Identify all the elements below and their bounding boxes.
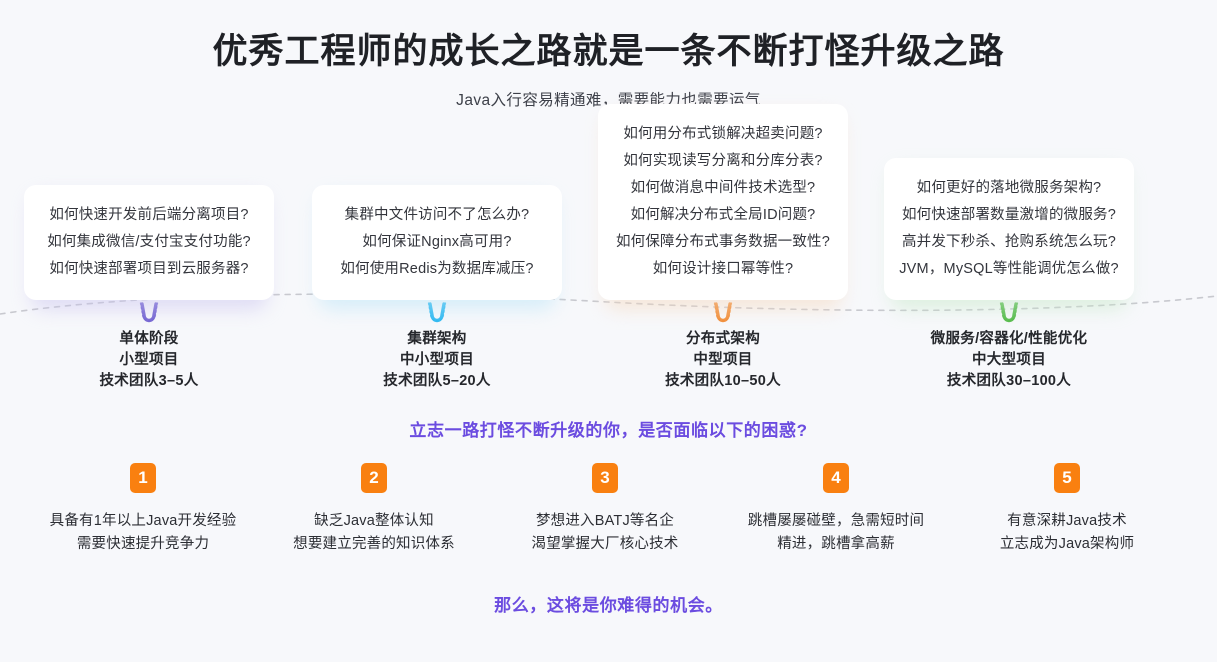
pain-text-5: 有意深耕Java技术 立志成为Java架构师 (951, 510, 1183, 556)
pain-text-2: 缺乏Java整体认知 想要建立完善的知识体系 (258, 510, 490, 556)
stage-label-line: 技术团队10–50人 (598, 371, 848, 392)
stage-label-4: 微服务/容器化/性能优化 中大型项目 技术团队30–100人 (884, 329, 1134, 392)
stage-card-wrap-3: 如何用分布式锁解决超卖问题? 如何实现读写分离和分库分表? 如何做消息中间件技术… (598, 104, 848, 300)
pain-text-line: 跳槽屡屡碰壁，急需短时间 (720, 510, 952, 533)
stage-label-line: 技术团队5–20人 (312, 371, 562, 392)
card-line: 如何实现读写分离和分库分表? (608, 148, 838, 175)
pain-section-heading: 立志一路打怪不断升级的你，是否面临以下的困惑? (0, 416, 1217, 441)
page-root: 优秀工程师的成长之路就是一条不断打怪升级之路 Java入行容易精通难，需要能力也… (0, 0, 1217, 662)
pain-section-footer: 那么，这将是你难得的机会。 (0, 591, 1217, 616)
pain-point-item-2: 2 缺乏Java整体认知 想要建立完善的知识体系 (258, 463, 490, 556)
stage-item-4: 如何更好的落地微服务架构? 如何快速部署数量激增的微服务? 高并发下秒杀、抢购系… (884, 132, 1134, 392)
pain-badge-1: 1 (130, 463, 156, 493)
stage-label-2: 集群架构 中小型项目 技术团队5–20人 (312, 329, 562, 392)
page-title: 优秀工程师的成长之路就是一条不断打怪升级之路 (0, 30, 1217, 74)
stage-label-line: 小型项目 (24, 350, 274, 371)
card-line: 如何快速开发前后端分离项目? (34, 202, 264, 229)
pain-text-line: 需要快速提升竞争力 (27, 533, 259, 556)
stage-label-line: 中型项目 (598, 350, 848, 371)
card-line: 如何做消息中间件技术选型? (608, 175, 838, 202)
pain-badge-5: 5 (1054, 463, 1080, 493)
stage-item-3: 如何用分布式锁解决超卖问题? 如何实现读写分离和分库分表? 如何做消息中间件技术… (598, 132, 848, 392)
card-line: JVM，MySQL等性能调优怎么做? (894, 256, 1124, 283)
stage-question-card-2: 集群中文件访问不了怎么办? 如何保证Nginx高可用? 如何使用Redis为数据… (312, 185, 562, 300)
stage-card-wrap-1: 如何快速开发前后端分离项目? 如何集成微信/支付宝支付功能? 如何快速部署项目到… (24, 185, 274, 300)
pain-text-line: 立志成为Java架构师 (951, 533, 1183, 556)
card-line: 集群中文件访问不了怎么办? (322, 202, 552, 229)
pain-badge-4: 4 (823, 463, 849, 493)
stage-question-card-1: 如何快速开发前后端分离项目? 如何集成微信/支付宝支付功能? 如何快速部署项目到… (24, 185, 274, 300)
stage-label-line: 技术团队3–5人 (24, 371, 274, 392)
pain-point-item-1: 1 具备有1年以上Java开发经验 需要快速提升竞争力 (27, 463, 259, 556)
pain-badge-2: 2 (361, 463, 387, 493)
page-header: 优秀工程师的成长之路就是一条不断打怪升级之路 Java入行容易精通难，需要能力也… (0, 0, 1217, 110)
pain-point-item-4: 4 跳槽屡屡碰壁，急需短时间 精进，跳槽拿高薪 (720, 463, 952, 556)
card-line: 如何更好的落地微服务架构? (894, 175, 1124, 202)
stage-item-2: 集群中文件访问不了怎么办? 如何保证Nginx高可用? 如何使用Redis为数据… (312, 132, 562, 392)
pain-text-4: 跳槽屡屡碰壁，急需短时间 精进，跳槽拿高薪 (720, 510, 952, 556)
stage-label-line: 技术团队30–100人 (884, 371, 1134, 392)
stage-label-line: 集群架构 (312, 329, 562, 350)
pain-text-line: 具备有1年以上Java开发经验 (27, 510, 259, 533)
stage-label-1: 单体阶段 小型项目 技术团队3–5人 (24, 329, 274, 392)
stage-label-line: 中小型项目 (312, 350, 562, 371)
pain-text-line: 有意深耕Java技术 (951, 510, 1183, 533)
stage-question-card-4: 如何更好的落地微服务架构? 如何快速部署数量激增的微服务? 高并发下秒杀、抢购系… (884, 158, 1134, 300)
pain-text-line: 想要建立完善的知识体系 (258, 533, 490, 556)
stage-label-line: 微服务/容器化/性能优化 (884, 329, 1134, 350)
card-line: 如何解决分布式全局ID问题? (608, 202, 838, 229)
stage-question-card-3: 如何用分布式锁解决超卖问题? 如何实现读写分离和分库分表? 如何做消息中间件技术… (598, 104, 848, 300)
card-line: 如何使用Redis为数据库减压? (322, 256, 552, 283)
stage-label-3: 分布式架构 中型项目 技术团队10–50人 (598, 329, 848, 392)
pain-point-item-3: 3 梦想进入BATJ等名企 渴望掌握大厂核心技术 (489, 463, 721, 556)
pain-text-line: 渴望掌握大厂核心技术 (489, 533, 721, 556)
pain-point-list: 1 具备有1年以上Java开发经验 需要快速提升竞争力 2 缺乏Java整体认知… (0, 463, 1217, 563)
pain-text-line: 缺乏Java整体认知 (258, 510, 490, 533)
card-line: 如何保证Nginx高可用? (322, 229, 552, 256)
card-line: 如何快速部署项目到云服务器? (34, 256, 264, 283)
card-line: 如何集成微信/支付宝支付功能? (34, 229, 264, 256)
pain-badge-3: 3 (592, 463, 618, 493)
pain-text-line: 精进，跳槽拿高薪 (720, 533, 952, 556)
card-line: 如何用分布式锁解决超卖问题? (608, 121, 838, 148)
stage-label-line: 中大型项目 (884, 350, 1134, 371)
stage-label-line: 单体阶段 (24, 329, 274, 350)
stage-item-1: 如何快速开发前后端分离项目? 如何集成微信/支付宝支付功能? 如何快速部署项目到… (24, 132, 274, 392)
pain-text-line: 梦想进入BATJ等名企 (489, 510, 721, 533)
stage-section: 如何快速开发前后端分离项目? 如何集成微信/支付宝支付功能? 如何快速部署项目到… (0, 132, 1217, 392)
stage-card-wrap-4: 如何更好的落地微服务架构? 如何快速部署数量激增的微服务? 高并发下秒杀、抢购系… (884, 158, 1134, 300)
pain-point-item-5: 5 有意深耕Java技术 立志成为Java架构师 (951, 463, 1183, 556)
stage-card-wrap-2: 集群中文件访问不了怎么办? 如何保证Nginx高可用? 如何使用Redis为数据… (312, 185, 562, 300)
pain-text-3: 梦想进入BATJ等名企 渴望掌握大厂核心技术 (489, 510, 721, 556)
card-line: 如何快速部署数量激增的微服务? (894, 202, 1124, 229)
pain-text-1: 具备有1年以上Java开发经验 需要快速提升竞争力 (27, 510, 259, 556)
card-line: 如何保障分布式事务数据一致性? (608, 229, 838, 256)
card-line: 高并发下秒杀、抢购系统怎么玩? (894, 229, 1124, 256)
card-line: 如何设计接口幂等性? (608, 256, 838, 283)
stage-label-line: 分布式架构 (598, 329, 848, 350)
